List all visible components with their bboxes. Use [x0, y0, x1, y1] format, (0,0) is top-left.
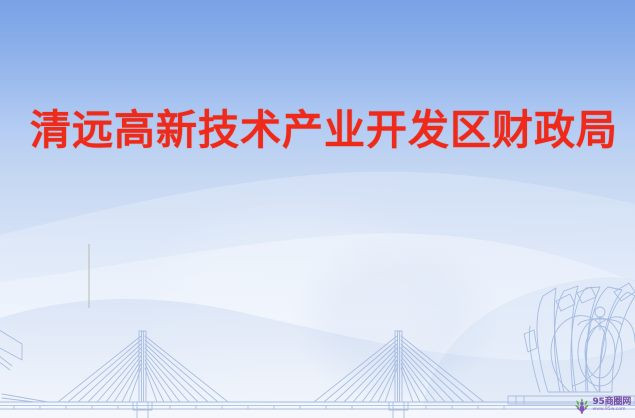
- cable-stayed-bridge-left: [2, 331, 228, 418]
- page-title: 清远高新技术产业开发区财政局: [30, 104, 610, 156]
- site-watermark: 95商圈网 www.95w.com: [574, 397, 631, 414]
- bridge-deck: [0, 402, 635, 409]
- government-site-banner: 清远高新技术产业开发区财政局 95商圈网 www.95w.com: [0, 0, 635, 418]
- bridge-pylon-left-edge: [0, 328, 22, 370]
- background-wave-shapes: [0, 0, 635, 418]
- watermark-site-url: www.95w.com: [592, 408, 631, 413]
- city-sculpture-lineart: [508, 283, 635, 404]
- bridge-and-sculpture-lineart: [0, 0, 635, 418]
- watermark-logo-icon: [574, 397, 590, 414]
- cable-stayed-bridge-right: [314, 331, 484, 418]
- watermark-site-name: 95商圈网: [592, 398, 631, 407]
